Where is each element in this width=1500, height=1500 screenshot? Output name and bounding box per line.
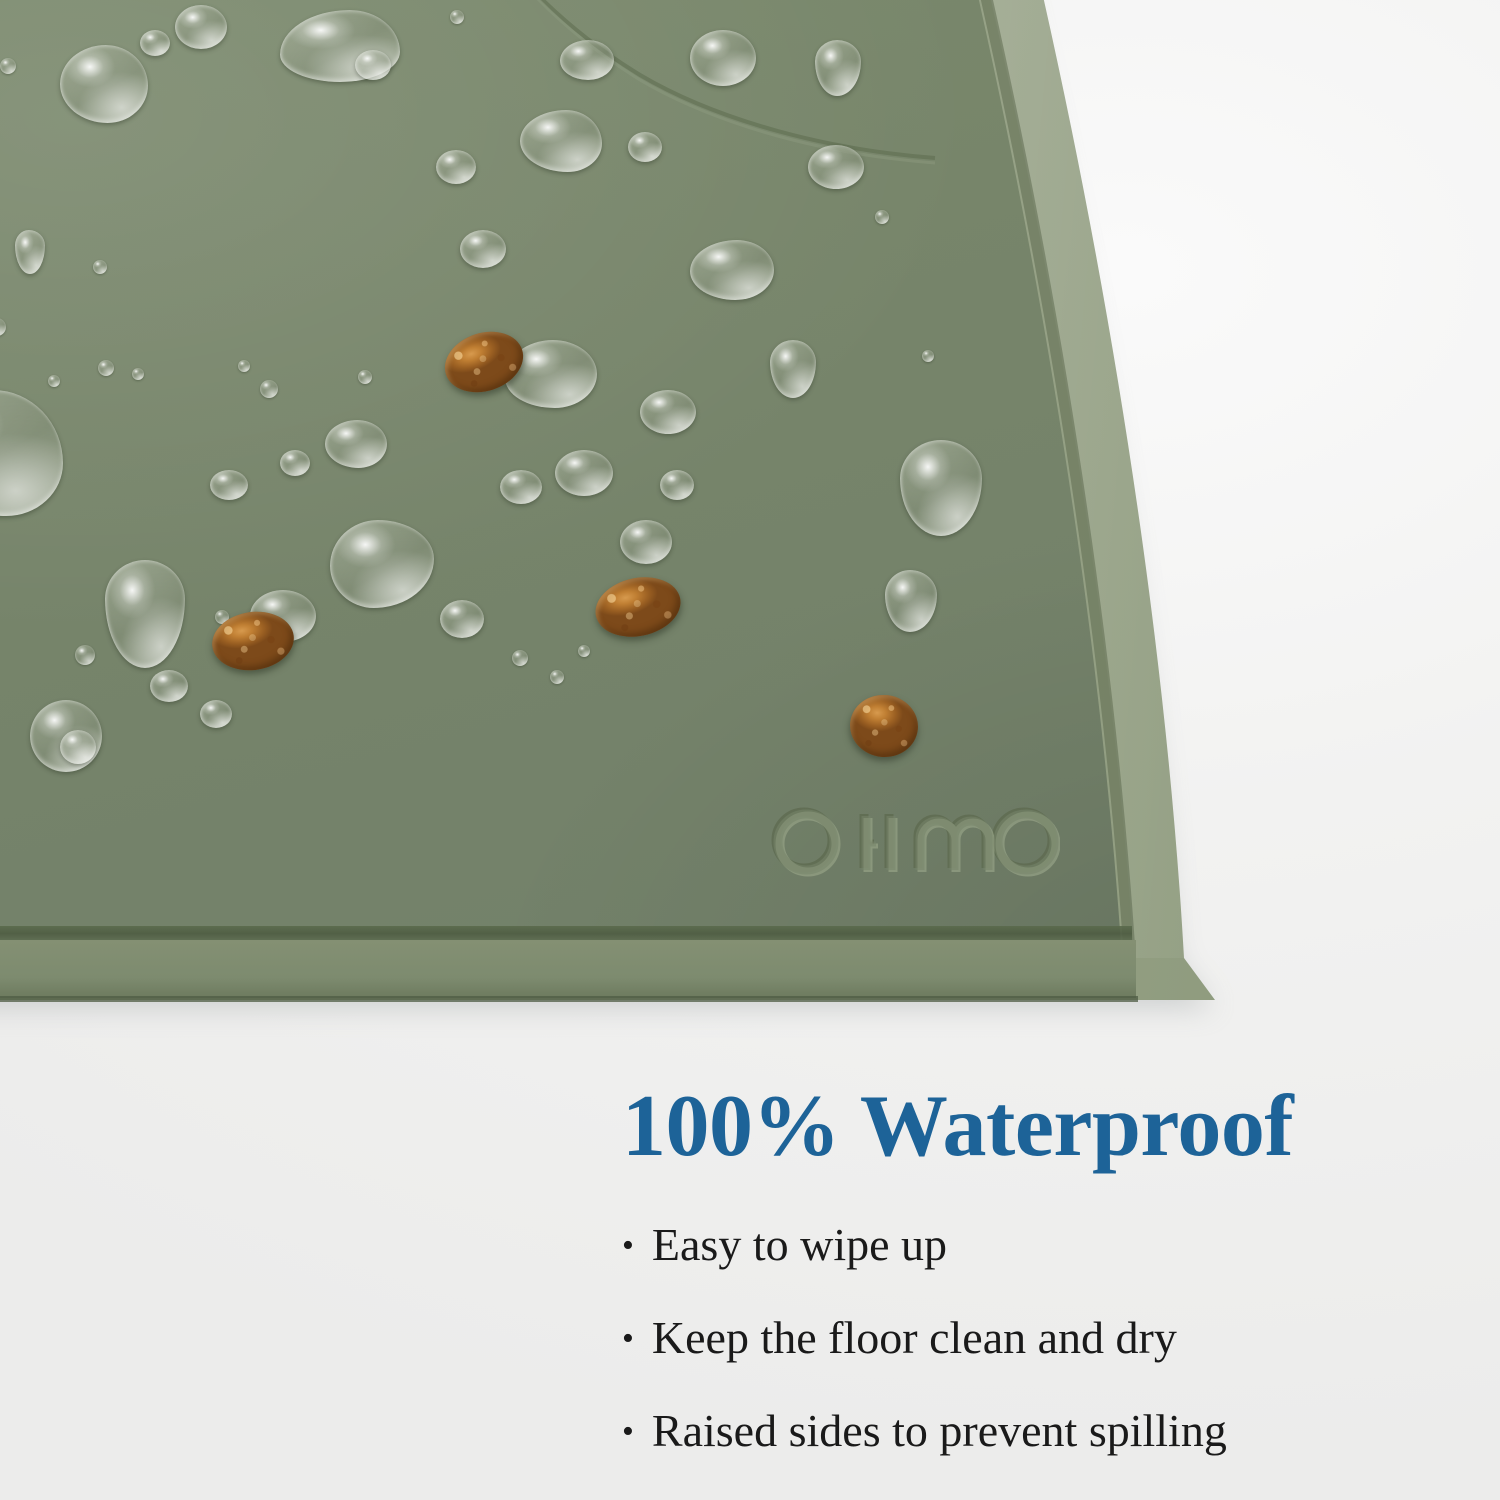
mat-bottom-edge-band: [0, 940, 1136, 998]
list-item-label: Easy to wipe up: [652, 1216, 947, 1275]
feature-bullet-list: • Easy to wipe up • Keep the floor clean…: [622, 1216, 1472, 1461]
list-item: • Raised sides to prevent spilling: [622, 1402, 1472, 1461]
list-item: • Keep the floor clean and dry: [622, 1309, 1472, 1368]
product-feature-image: 100% Waterproof • Easy to wipe up • Keep…: [0, 0, 1500, 1500]
pet-feeding-mat: [0, 0, 1320, 1060]
bullet-marker-icon: •: [622, 1229, 634, 1263]
list-item-label: Raised sides to prevent spilling: [652, 1402, 1227, 1461]
headline: 100% Waterproof: [622, 1082, 1472, 1172]
marketing-copy: 100% Waterproof • Easy to wipe up • Keep…: [622, 1082, 1472, 1494]
list-item: • Easy to wipe up: [622, 1216, 1472, 1275]
bullet-marker-icon: •: [622, 1415, 634, 1449]
mat-bottom-lip: [0, 996, 1138, 1002]
ohmo-logo-icon: [770, 800, 1060, 880]
bullet-marker-icon: •: [622, 1322, 634, 1356]
list-item-label: Keep the floor clean and dry: [652, 1309, 1177, 1368]
mat-bottom-crease: [0, 926, 1132, 940]
ohmo-brand-logo: [770, 800, 1060, 880]
